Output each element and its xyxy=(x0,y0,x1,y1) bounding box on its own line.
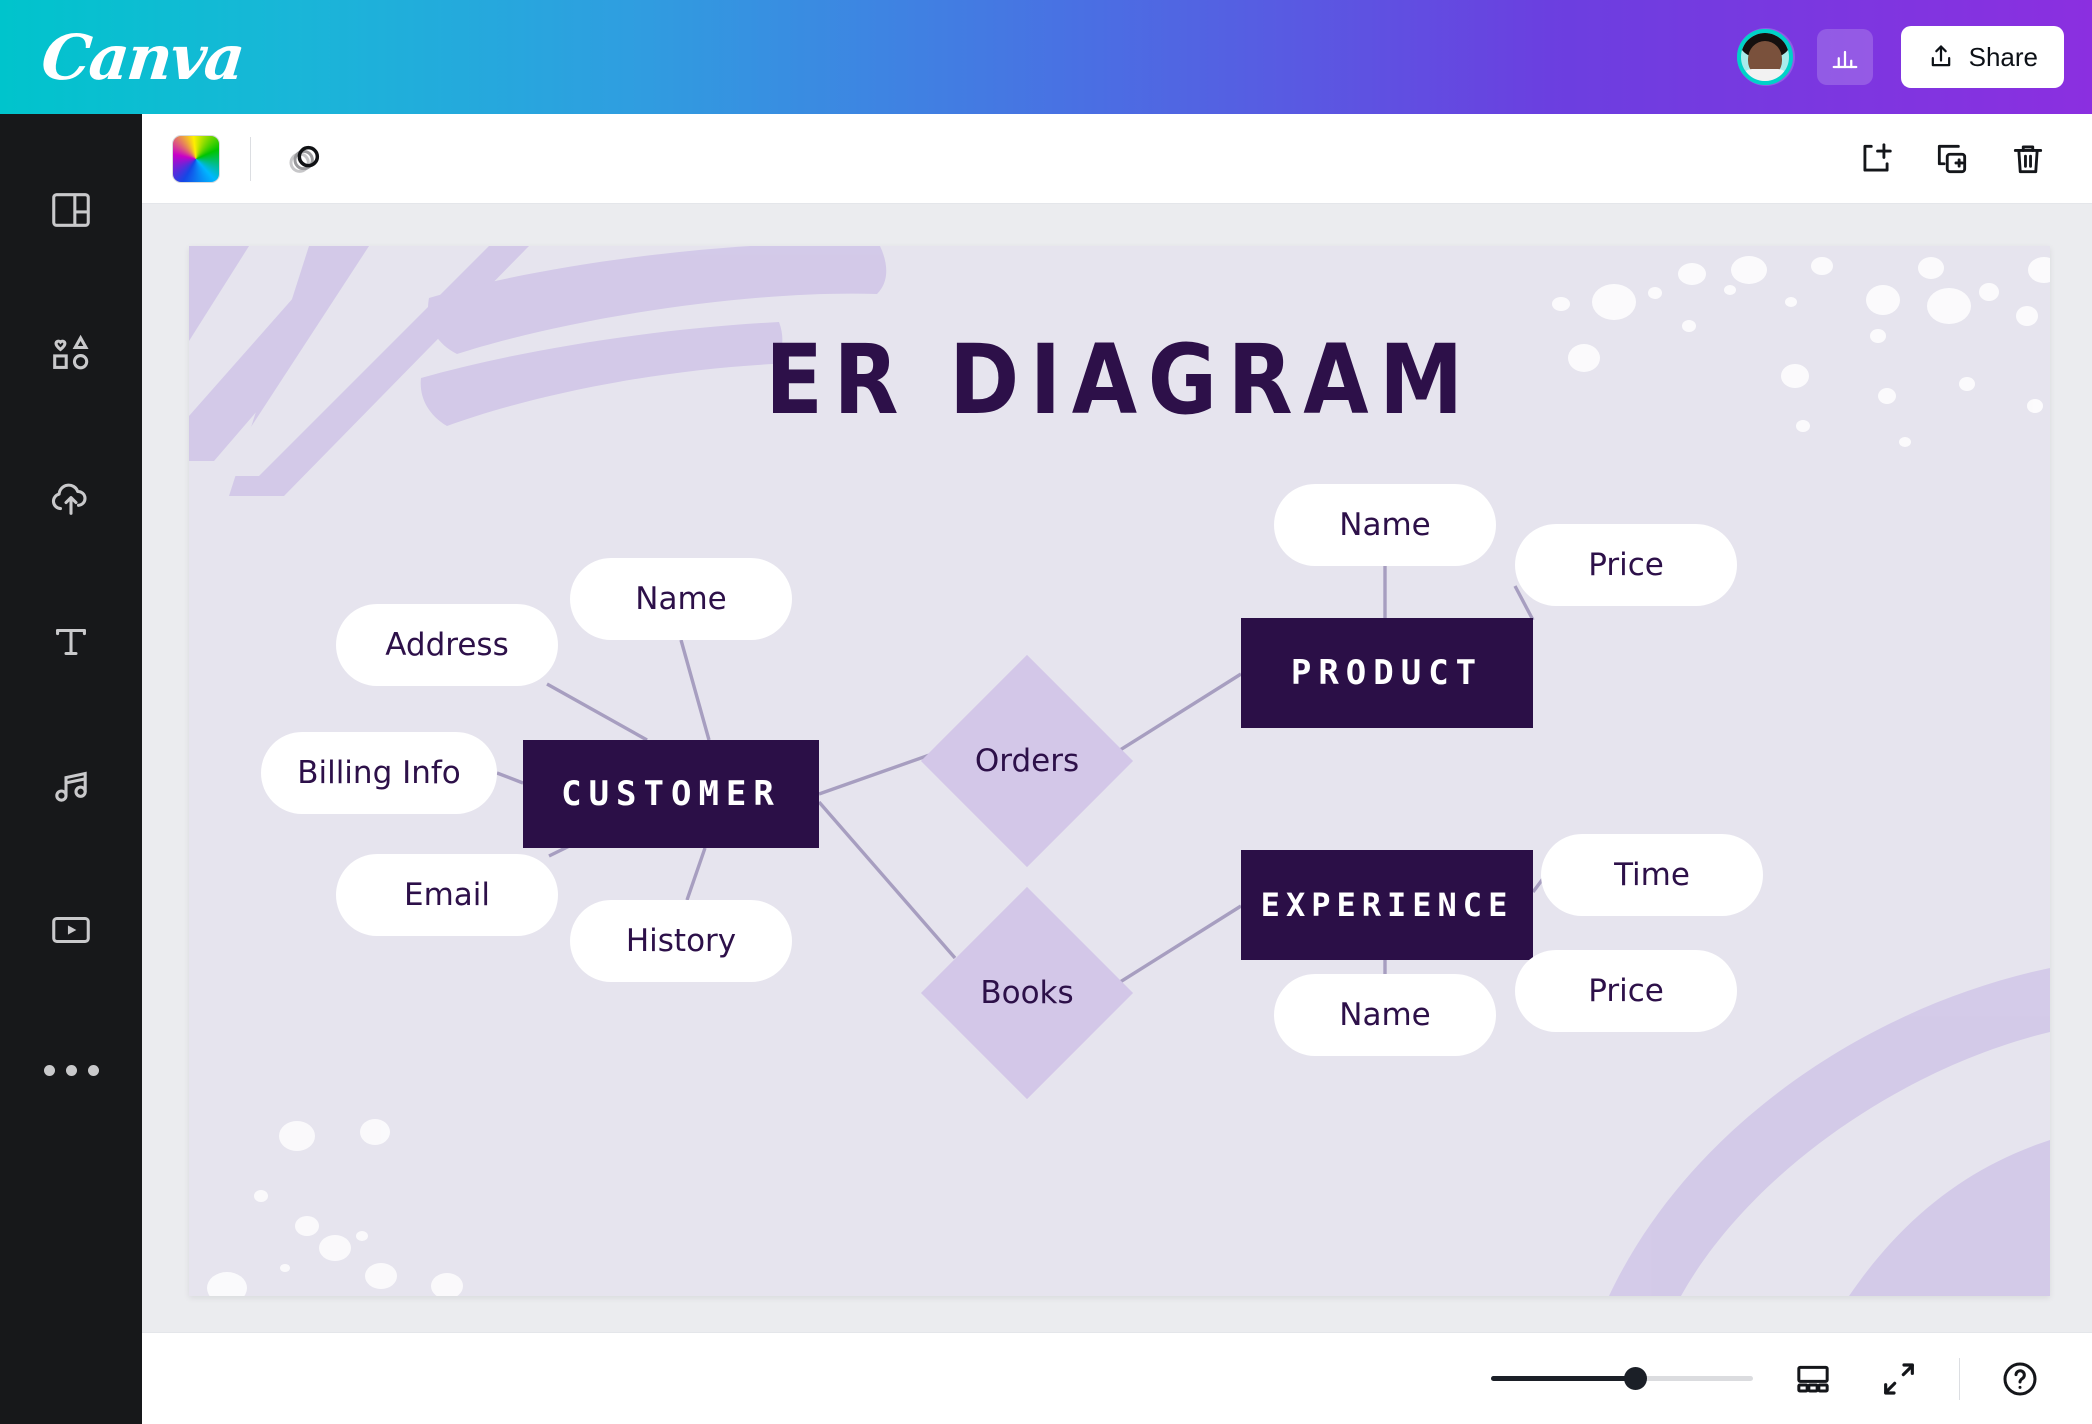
attribute-label: Price xyxy=(1588,547,1664,583)
attribute-label: Address xyxy=(385,627,508,663)
attribute-label: Name xyxy=(635,581,726,617)
entity-label: PRODUCT xyxy=(1291,653,1483,693)
attribute-experience-price[interactable]: Price xyxy=(1515,950,1737,1032)
cloud-upload-icon xyxy=(48,475,94,521)
attribute-label: Billing Info xyxy=(297,755,461,791)
attribute-experience-name[interactable]: Name xyxy=(1274,974,1496,1056)
entity-experience[interactable]: EXPERIENCE xyxy=(1241,850,1533,960)
attribute-customer-history[interactable]: History xyxy=(570,900,792,982)
zoom-fill xyxy=(1491,1376,1635,1381)
object-toolbar xyxy=(142,114,2092,204)
avatar-shirt xyxy=(1742,69,1788,85)
attribute-customer-email[interactable]: Email xyxy=(336,854,558,936)
header-actions: Share xyxy=(1755,26,2092,88)
text-t-icon xyxy=(48,619,94,665)
zoom-slider[interactable] xyxy=(1491,1368,1753,1390)
bottombar-divider xyxy=(1959,1358,1960,1400)
relationship-orders[interactable]: Orders xyxy=(952,686,1102,836)
expand-arrows-icon xyxy=(1879,1359,1919,1399)
entity-label: CUSTOMER xyxy=(561,774,781,814)
sidebar-item-text[interactable] xyxy=(0,588,142,696)
editor-area[interactable]: ER DIAGRAM CUSTOMER PRODUCT EXPERIENCE O… xyxy=(142,204,2092,1332)
page-actions xyxy=(1856,139,2092,179)
transparency-button[interactable] xyxy=(277,132,331,186)
three-dots-icon xyxy=(44,1065,99,1076)
sidebar-item-design[interactable] xyxy=(0,156,142,264)
attribute-customer-billing-info[interactable]: Billing Info xyxy=(261,732,497,814)
bottom-status-bar xyxy=(142,1332,2092,1424)
attribute-customer-name[interactable]: Name xyxy=(570,558,792,640)
collaborators-group xyxy=(1755,28,1793,86)
duplicate-page-icon xyxy=(1933,140,1971,178)
entity-customer[interactable]: CUSTOMER xyxy=(523,740,819,848)
question-mark-icon xyxy=(2000,1359,2040,1399)
attribute-label: History xyxy=(626,923,736,959)
entity-product[interactable]: PRODUCT xyxy=(1241,618,1533,728)
sidebar-item-elements[interactable] xyxy=(0,300,142,408)
grid-view-button[interactable] xyxy=(1787,1353,1839,1405)
top-header-bar: Canva xyxy=(0,0,2092,114)
add-page-icon xyxy=(1857,140,1895,178)
grid-view-icon xyxy=(1793,1359,1833,1399)
attribute-label: Name xyxy=(1339,507,1430,543)
attribute-customer-address[interactable]: Address xyxy=(336,604,558,686)
zoom-knob[interactable] xyxy=(1624,1367,1647,1390)
sidebar-item-videos[interactable] xyxy=(0,876,142,984)
shapes-icon xyxy=(48,331,94,377)
relationship-label: Books xyxy=(980,975,1073,1011)
sidebar-item-more[interactable] xyxy=(0,1016,142,1124)
insights-button[interactable] xyxy=(1817,29,1873,85)
avatar[interactable] xyxy=(1737,29,1793,85)
fullscreen-button[interactable] xyxy=(1873,1353,1925,1405)
attribute-product-name[interactable]: Name xyxy=(1274,484,1496,566)
play-rectangle-icon xyxy=(48,907,94,953)
sidebar-item-audio[interactable] xyxy=(0,732,142,840)
attribute-label: Email xyxy=(404,877,490,913)
attribute-experience-time[interactable]: Time xyxy=(1541,834,1763,916)
design-canvas[interactable]: ER DIAGRAM CUSTOMER PRODUCT EXPERIENCE O… xyxy=(189,246,2050,1296)
attribute-label: Price xyxy=(1588,973,1664,1009)
canva-editor-window: Canva xyxy=(0,0,2092,1424)
delete-page-button[interactable] xyxy=(2008,139,2048,179)
attribute-label: Time xyxy=(1614,857,1690,893)
layout-panel-icon xyxy=(48,187,94,233)
music-note-icon xyxy=(48,763,94,809)
color-picker-swatch[interactable] xyxy=(172,135,220,183)
upload-icon xyxy=(1927,43,1955,71)
transparency-circles-icon xyxy=(284,139,324,179)
bar-chart-icon xyxy=(1830,42,1860,72)
page-title[interactable]: ER DIAGRAM xyxy=(301,324,1939,436)
attribute-label: Name xyxy=(1339,997,1430,1033)
help-button[interactable] xyxy=(1994,1353,2046,1405)
sidebar-item-uploads[interactable] xyxy=(0,444,142,552)
left-sidebar xyxy=(0,114,142,1424)
add-page-button[interactable] xyxy=(1856,139,1896,179)
entity-label: EXPERIENCE xyxy=(1261,886,1514,924)
attribute-product-price[interactable]: Price xyxy=(1515,524,1737,606)
relationship-label: Orders xyxy=(975,743,1079,779)
relationship-books[interactable]: Books xyxy=(952,918,1102,1068)
trash-icon xyxy=(2009,140,2047,178)
share-button[interactable]: Share xyxy=(1901,26,2064,88)
toolbar-divider xyxy=(250,137,251,181)
duplicate-page-button[interactable] xyxy=(1932,139,1972,179)
share-label: Share xyxy=(1969,42,2038,73)
canva-logo[interactable]: Canva xyxy=(38,21,246,94)
